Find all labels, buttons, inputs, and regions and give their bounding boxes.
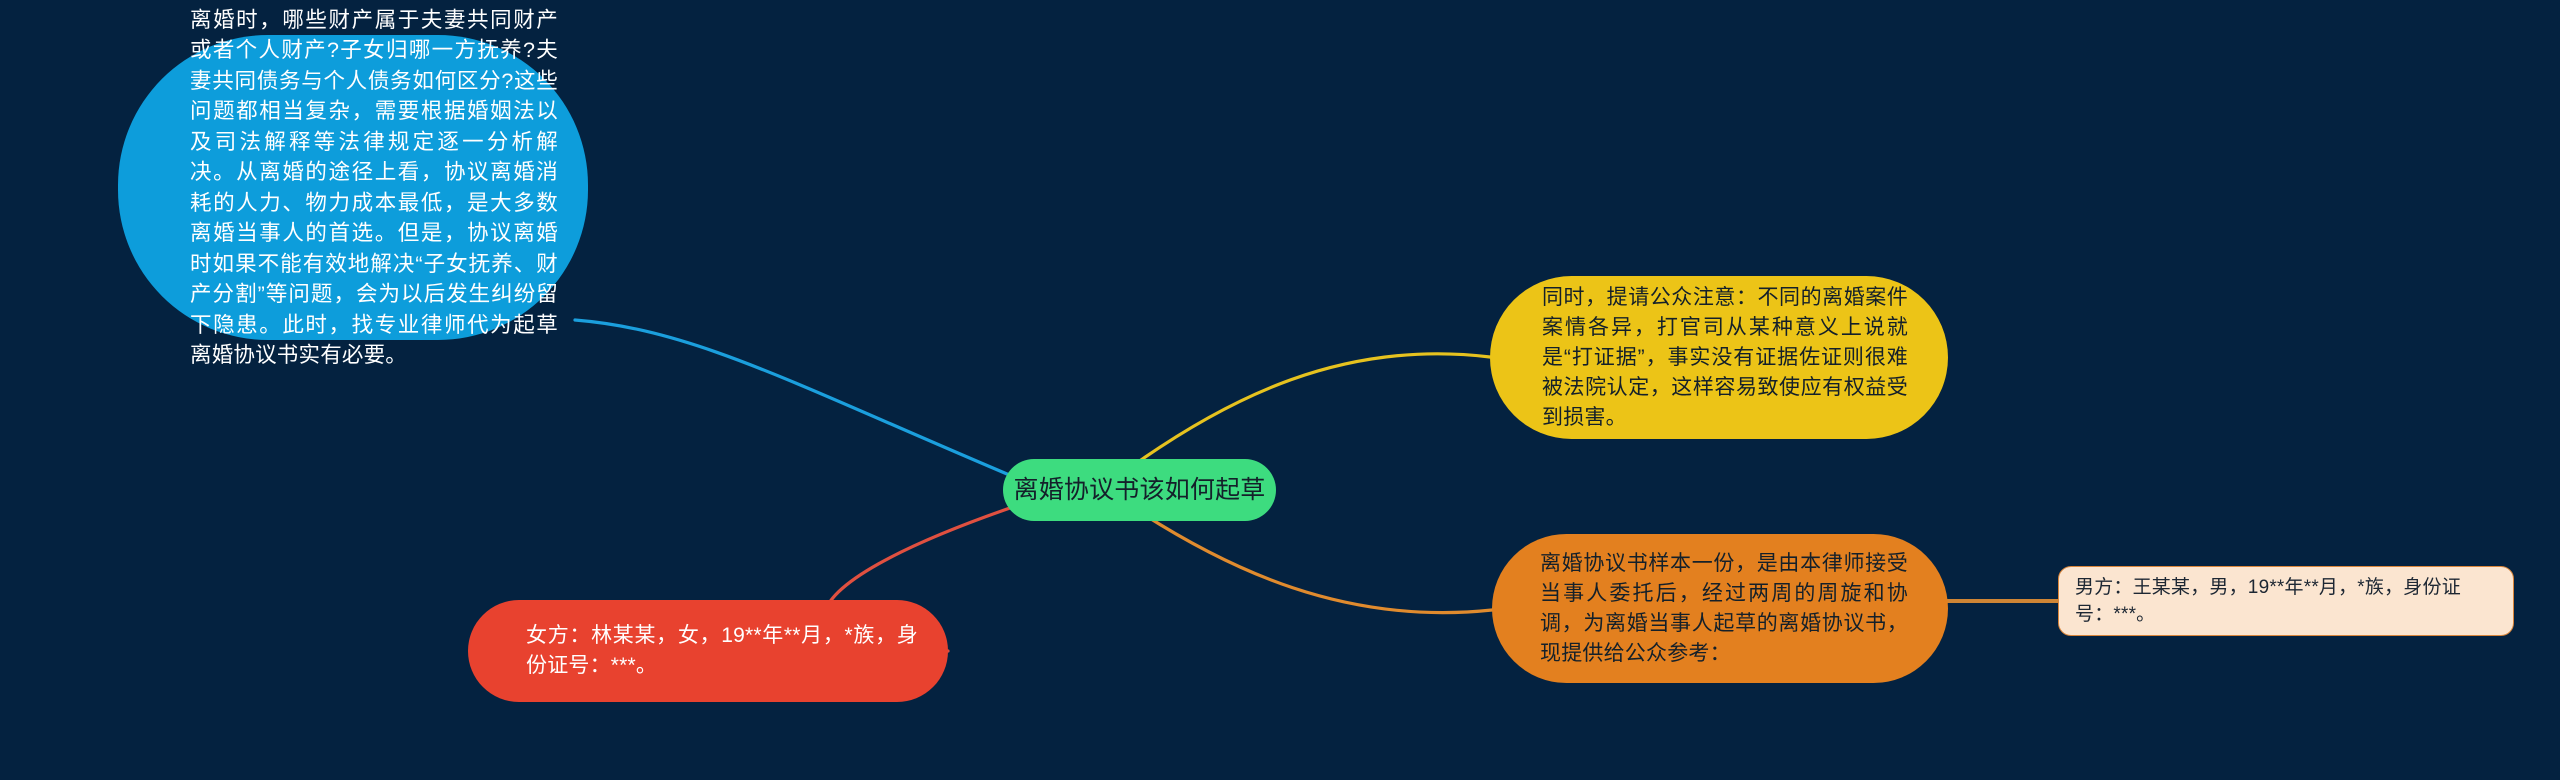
branch-node-red-text: 女方：林某某，女，19**年**月，*族，身份证号：***。 [526,621,918,681]
mindmap-canvas: 离婚时，哪些财产属于夫妻共同财产或者个人财产?子女归哪一方抚养?夫妻共同债务与个… [0,0,2560,780]
leaf-node-cream[interactable]: 男方：王某某，男，19**年**月，*族，身份证号：***。 [2058,566,2514,636]
leaf-node-cream-text: 男方：王某某，男，19**年**月，*族，身份证号：***。 [2075,574,2495,628]
branch-node-blue-text: 离婚时，哪些财产属于夫妻共同财产或者个人财产?子女归哪一方抚养?夫妻共同债务与个… [190,5,558,371]
branch-node-yellow-text: 同时，提请公众注意：不同的离婚案件案情各异，打官司从某种意义上说就是“打证据”，… [1542,283,1908,433]
branch-node-blue[interactable]: 离婚时，哪些财产属于夫妻共同财产或者个人财产?子女归哪一方抚养?夫妻共同债务与个… [118,35,588,340]
branch-node-red[interactable]: 女方：林某某，女，19**年**月，*族，身份证号：***。 [468,600,948,702]
branch-node-yellow[interactable]: 同时，提请公众注意：不同的离婚案件案情各异，打官司从某种意义上说就是“打证据”，… [1490,276,1948,439]
connector-blue [575,320,1045,490]
central-topic-label: 离婚协议书该如何起草 [1014,475,1266,505]
branch-node-orange[interactable]: 离婚协议书样本一份，是由本律师接受当事人委托后，经过两周的周旋和协调，为离婚当事… [1492,534,1948,683]
branch-node-orange-text: 离婚协议书样本一份，是由本律师接受当事人委托后，经过两周的周旋和协调，为离婚当事… [1540,549,1908,669]
central-topic-node[interactable]: 离婚协议书该如何起草 [1003,459,1276,521]
